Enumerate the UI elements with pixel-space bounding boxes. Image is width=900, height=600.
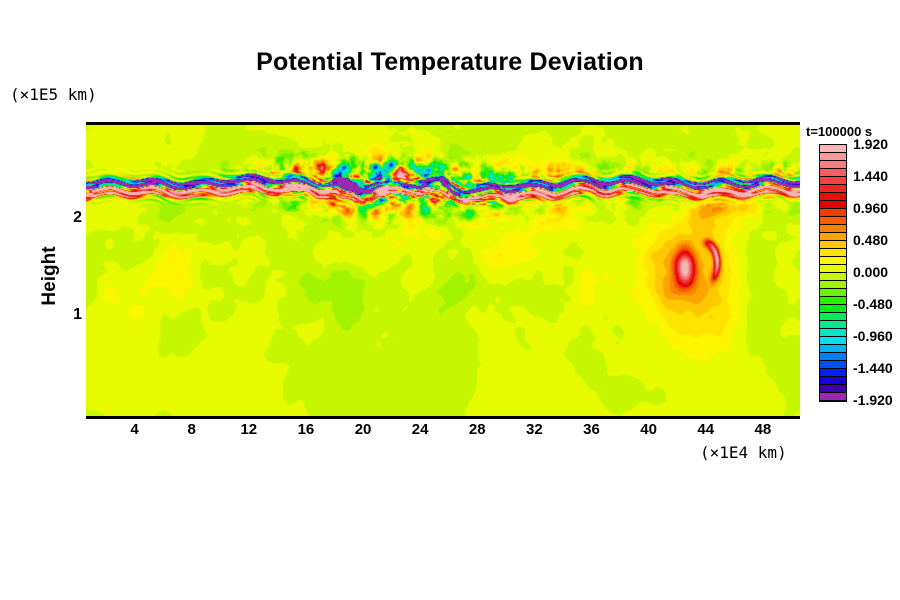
colorbar-tick-8: -1.920 <box>853 392 893 408</box>
colorbar-band <box>820 329 846 337</box>
colorbar-band <box>820 385 846 393</box>
colorbar-band <box>820 225 846 233</box>
colorbar-band <box>820 249 846 257</box>
x-tick-label-16: 16 <box>286 421 326 438</box>
colorbar-band <box>820 377 846 385</box>
x-tick-label-12: 12 <box>229 421 269 438</box>
x-tick-label-4: 4 <box>115 421 155 438</box>
colorbar-band <box>820 201 846 209</box>
colorbar-band <box>820 321 846 329</box>
colorbar-band <box>820 177 846 185</box>
colorbar-band <box>820 369 846 377</box>
colorbar-band <box>820 297 846 305</box>
x-tick-label-40: 40 <box>629 421 669 438</box>
colorbar-band <box>820 273 846 281</box>
colorbar-band <box>820 169 846 177</box>
x-axis-unit-label: (×1E4 km) <box>700 443 787 462</box>
colorbar-band <box>820 193 846 201</box>
colorbar-tick-4: 0.000 <box>853 264 888 280</box>
colorbar-band <box>820 313 846 321</box>
colorbar-tick-7: -1.440 <box>853 360 893 376</box>
colorbar-band <box>820 145 846 153</box>
x-tick-label-44: 44 <box>686 421 726 438</box>
colorbar-band <box>820 241 846 249</box>
colorbar-band <box>820 265 846 273</box>
colorbar-tick-2: 0.960 <box>853 200 888 216</box>
colorbar-band <box>820 305 846 313</box>
x-tick-label-28: 28 <box>457 421 497 438</box>
colorbar-tick-5: -0.480 <box>853 296 893 312</box>
figure-canvas: Potential Temperature Deviation (×1E5 km… <box>0 0 900 600</box>
colorbar-band <box>820 257 846 265</box>
colorbar-band <box>820 353 846 361</box>
x-tick-label-20: 20 <box>343 421 383 438</box>
y-tick-label-2: 2 <box>56 209 82 227</box>
x-tick-label-8: 8 <box>172 421 212 438</box>
x-tick-label-36: 36 <box>572 421 612 438</box>
heatmap-plot-area <box>86 125 800 416</box>
colorbar-band <box>820 345 846 353</box>
colorbar-band <box>820 393 846 401</box>
colorbar-tick-6: -0.960 <box>853 328 893 344</box>
colorbar-band <box>820 337 846 345</box>
x-tick-label-48: 48 <box>743 421 783 438</box>
colorbar-tick-3: 0.480 <box>853 232 888 248</box>
colorbar <box>820 145 846 401</box>
colorbar-band <box>820 361 846 369</box>
temperature-deviation-field <box>86 125 800 416</box>
page-title: Potential Temperature Deviation <box>0 48 900 77</box>
y-axis-unit-label: (×1E5 km) <box>10 85 97 104</box>
x-tick-label-32: 32 <box>514 421 554 438</box>
colorbar-tick-0: 1.920 <box>853 136 888 152</box>
colorbar-tick-1: 1.440 <box>853 168 888 184</box>
colorbar-band <box>820 289 846 297</box>
x-tick-label-24: 24 <box>400 421 440 438</box>
colorbar-band <box>820 281 846 289</box>
colorbar-band <box>820 233 846 241</box>
y-tick-label-1: 1 <box>56 306 82 324</box>
colorbar-band <box>820 209 846 217</box>
plot-frame-bottom <box>86 416 800 419</box>
colorbar-band <box>820 153 846 161</box>
colorbar-band <box>820 161 846 169</box>
colorbar-band <box>820 185 846 193</box>
colorbar-band <box>820 217 846 225</box>
